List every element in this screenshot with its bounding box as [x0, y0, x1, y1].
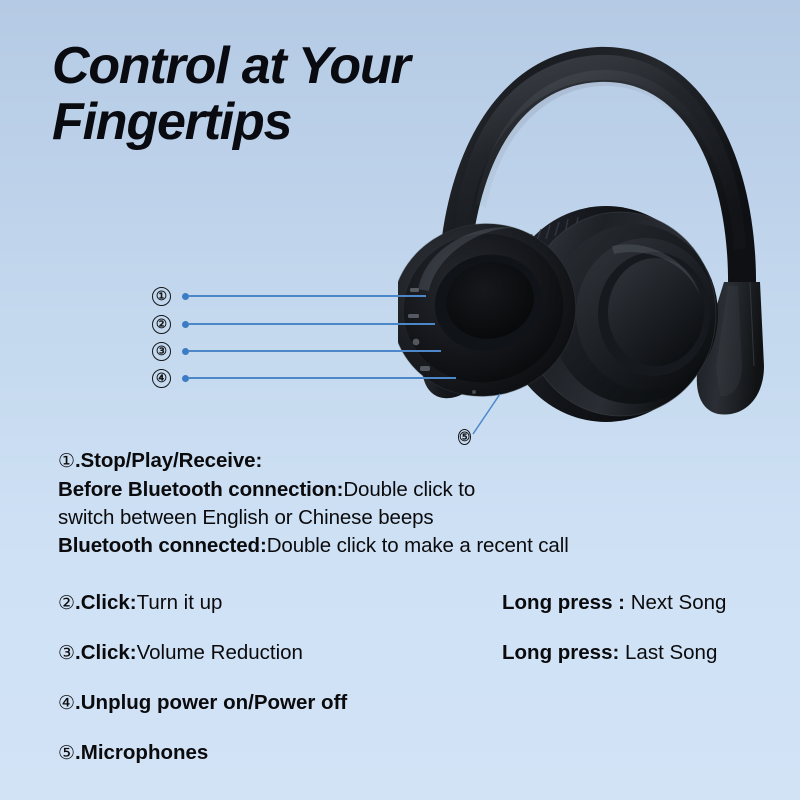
callout-1: ① — [152, 286, 426, 306]
spec-1-line-3: switch between English or Chinese beeps — [58, 504, 758, 532]
spec-5-marker: ⑤ — [58, 743, 75, 764]
spec-2-longpress: Long press : Next Song — [502, 590, 726, 616]
spec-2-action: ②.Click:Turn it up — [58, 590, 222, 617]
spec-list: ①.Stop/Play/Receive: Before Bluetooth co… — [58, 447, 758, 790]
spec-2-longpress-text: Next Song — [625, 591, 726, 614]
callout-line-2 — [188, 323, 435, 325]
callout-number-3: ③ — [152, 342, 171, 361]
callout-line-1 — [188, 295, 426, 297]
spec-2-action-label: .Click: — [75, 591, 137, 614]
spec-3-longpress-text: Last Song — [619, 641, 717, 664]
spec-1-title-line: ①.Stop/Play/Receive: — [58, 447, 758, 476]
spec-item-3: ③.Click:Volume Reduction Long press: Las… — [58, 640, 758, 690]
callout-number-5: ⑤ — [458, 429, 471, 445]
callout-number-2: ② — [152, 315, 171, 334]
spec-3-longpress-label: Long press: — [502, 641, 619, 664]
spec-3-longpress: Long press: Last Song — [502, 640, 717, 666]
spec-1-line4-label: Bluetooth connected: — [58, 534, 267, 557]
spec-item-1: ①.Stop/Play/Receive: Before Bluetooth co… — [58, 447, 758, 560]
spec-item-2: ②.Click:Turn it up Long press : Next Son… — [58, 590, 758, 640]
spec-3-action-text: Volume Reduction — [137, 641, 303, 664]
callout-line-3 — [188, 350, 441, 352]
spec-3-action: ③.Click:Volume Reduction — [58, 640, 303, 667]
spec-1-line4-text: Double click to make a recent call — [267, 534, 569, 557]
callout-line-5 — [470, 392, 502, 436]
spec-1-line2-label: Before Bluetooth connection: — [58, 478, 343, 501]
spec-1-line-4: Bluetooth connected:Double click to make… — [58, 532, 758, 560]
spec-4-text-line: ④.Unplug power on/Power off — [58, 690, 347, 717]
spec-5-text: .Microphones — [75, 741, 208, 764]
spec-1-line2-text: Double click to — [343, 478, 475, 501]
callout-4: ④ — [152, 368, 456, 388]
spec-4-text: .Unplug power on/Power off — [75, 691, 347, 714]
spec-3-action-label: .Click: — [75, 641, 137, 664]
spec-4-marker: ④ — [58, 693, 75, 714]
callout-number-4: ④ — [152, 369, 171, 388]
callout-5: ⑤ — [458, 428, 471, 446]
spec-2-action-text: Turn it up — [137, 591, 223, 614]
spec-1-line-2: Before Bluetooth connection:Double click… — [58, 476, 758, 504]
spec-2-longpress-label: Long press : — [502, 591, 625, 614]
spec-item-5: ⑤.Microphones — [58, 740, 758, 790]
spec-5-text-line: ⑤.Microphones — [58, 740, 208, 767]
spec-item-4: ④.Unplug power on/Power off — [58, 690, 758, 740]
callout-number-1: ① — [152, 287, 171, 306]
product-image-headphones: thinkplus — [398, 14, 800, 444]
spec-3-marker: ③ — [58, 643, 75, 664]
spacer-1 — [58, 560, 758, 590]
spec-1-title: .Stop/Play/Receive: — [75, 449, 262, 472]
spec-1-marker: ① — [58, 451, 75, 472]
callout-3: ③ — [152, 341, 441, 361]
spec-2-marker: ② — [58, 593, 75, 614]
callout-line-4 — [188, 377, 456, 379]
callout-2: ② — [152, 314, 435, 334]
infographic-canvas: Control at Your Fingertips — [0, 0, 800, 800]
